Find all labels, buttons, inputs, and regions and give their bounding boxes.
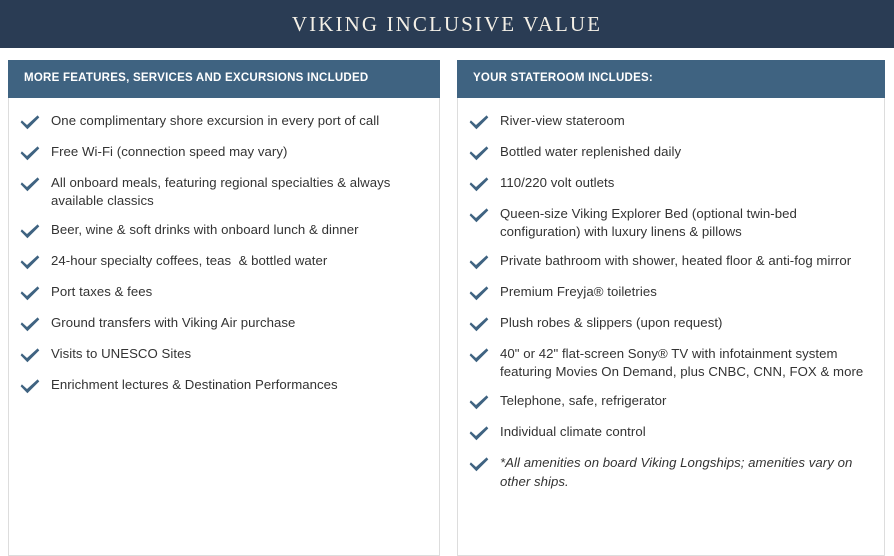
page-title: Viking Inclusive Value [292, 12, 602, 37]
list-item-label: *All amenities on board Viking Longships… [500, 454, 870, 490]
panel-features-header: MORE FEATURES, SERVICES AND EXCURSIONS I… [8, 60, 440, 98]
list-item: Queen-size Viking Explorer Bed (optional… [468, 205, 870, 241]
list-item-label: Private bathroom with shower, heated flo… [500, 252, 851, 270]
stateroom-list: River-view stateroomBottled water replen… [468, 112, 870, 491]
list-item: Free Wi-Fi (connection speed may vary) [19, 143, 425, 163]
list-item: One complimentary shore excursion in eve… [19, 112, 425, 132]
panel-features: MORE FEATURES, SERVICES AND EXCURSIONS I… [8, 61, 440, 556]
list-item: 24-hour specialty coffees, teas & bottle… [19, 252, 425, 272]
columns-container: MORE FEATURES, SERVICES AND EXCURSIONS I… [0, 48, 894, 556]
list-item: Private bathroom with shower, heated flo… [468, 252, 870, 272]
check-icon [19, 223, 41, 241]
check-icon [468, 176, 490, 194]
panel-stateroom-body: River-view stateroomBottled water replen… [458, 98, 884, 512]
list-item: River-view stateroom [468, 112, 870, 132]
check-icon [19, 176, 41, 194]
check-icon [19, 378, 41, 396]
list-item-label: Bottled water replenished daily [500, 143, 681, 161]
list-item: Premium Freyja® toiletries [468, 283, 870, 303]
list-item-label: Individual climate control [500, 423, 646, 441]
list-item-label: Enrichment lectures & Destination Perfor… [51, 376, 338, 394]
check-icon [468, 285, 490, 303]
panel-features-body: One complimentary shore excursion in eve… [9, 98, 439, 417]
list-item-label: Telephone, safe, refrigerator [500, 392, 666, 410]
check-icon [468, 114, 490, 132]
list-item-label: River-view stateroom [500, 112, 625, 130]
list-item: Bottled water replenished daily [468, 143, 870, 163]
list-item: Telephone, safe, refrigerator [468, 392, 870, 412]
list-item-label: Visits to UNESCO Sites [51, 345, 191, 363]
list-item: *All amenities on board Viking Longships… [468, 454, 870, 490]
page-banner: Viking Inclusive Value [0, 0, 894, 48]
check-icon [468, 456, 490, 474]
list-item: Port taxes & fees [19, 283, 425, 303]
list-item-label: Premium Freyja® toiletries [500, 283, 657, 301]
list-item: Individual climate control [468, 423, 870, 443]
list-item-label: Queen-size Viking Explorer Bed (optional… [500, 205, 870, 241]
list-item-label: 24-hour specialty coffees, teas & bottle… [51, 252, 327, 270]
list-item: Beer, wine & soft drinks with onboard lu… [19, 221, 425, 241]
list-item-label: Free Wi-Fi (connection speed may vary) [51, 143, 287, 161]
check-icon [19, 347, 41, 365]
check-icon [468, 347, 490, 365]
check-icon [468, 394, 490, 412]
list-item: Visits to UNESCO Sites [19, 345, 425, 365]
list-item: Plush robes & slippers (upon request) [468, 314, 870, 334]
check-icon [19, 114, 41, 132]
check-icon [468, 425, 490, 443]
list-item-label: Beer, wine & soft drinks with onboard lu… [51, 221, 359, 239]
list-item: All onboard meals, featuring regional sp… [19, 174, 425, 210]
list-item-label: Port taxes & fees [51, 283, 152, 301]
check-icon [468, 254, 490, 272]
list-item: Enrichment lectures & Destination Perfor… [19, 376, 425, 396]
features-list: One complimentary shore excursion in eve… [19, 112, 425, 396]
check-icon [19, 316, 41, 334]
panel-stateroom: YOUR STATEROOM INCLUDES: River-view stat… [457, 61, 885, 556]
list-item: 110/220 volt outlets [468, 174, 870, 194]
check-icon [19, 254, 41, 272]
list-item-label: 110/220 volt outlets [500, 174, 614, 192]
check-icon [468, 316, 490, 334]
list-item: Ground transfers with Viking Air purchas… [19, 314, 425, 334]
list-item-label: Ground transfers with Viking Air purchas… [51, 314, 295, 332]
viking-inclusive-value-page: Viking Inclusive Value MORE FEATURES, SE… [0, 0, 894, 555]
list-item-label: All onboard meals, featuring regional sp… [51, 174, 425, 210]
list-item-label: Plush robes & slippers (upon request) [500, 314, 723, 332]
check-icon [19, 285, 41, 303]
list-item: 40" or 42" flat-screen Sony® TV with inf… [468, 345, 870, 381]
check-icon [468, 207, 490, 225]
list-item-label: One complimentary shore excursion in eve… [51, 112, 379, 130]
panel-stateroom-header: YOUR STATEROOM INCLUDES: [457, 60, 885, 98]
list-item-label: 40" or 42" flat-screen Sony® TV with inf… [500, 345, 870, 381]
check-icon [19, 145, 41, 163]
check-icon [468, 145, 490, 163]
